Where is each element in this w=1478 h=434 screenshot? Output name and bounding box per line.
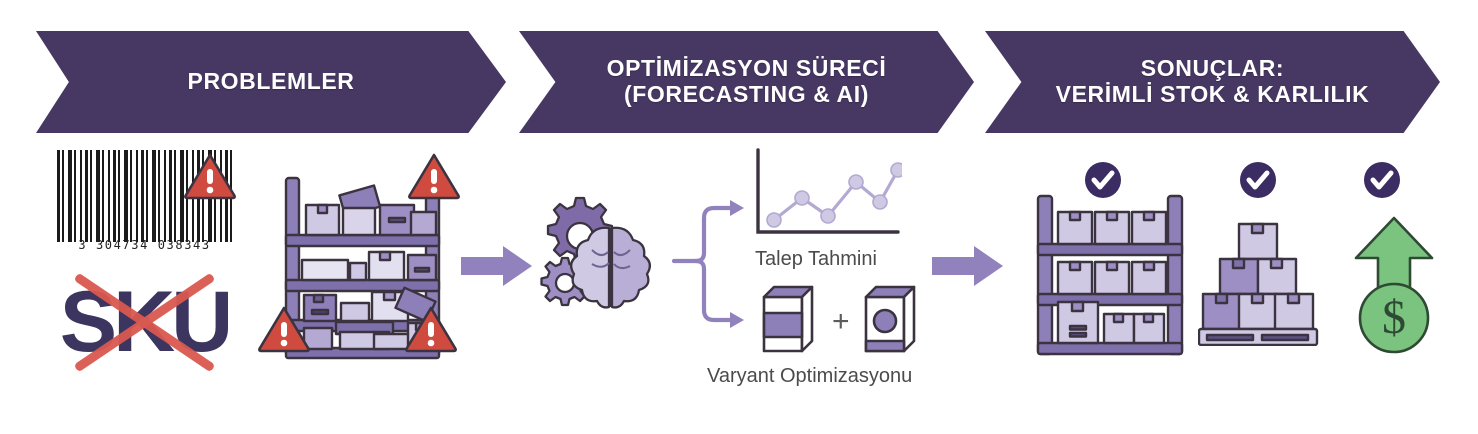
warning-triangle-icon xyxy=(408,152,460,200)
banner-optimization[interactable]: OPTİMİZASYON SÜRECİ (FORECASTING & AI) xyxy=(519,31,974,133)
banner-optimization-label: OPTİMİZASYON SÜRECİ (FORECASTING & AI) xyxy=(607,56,887,108)
warning-triangle-icon xyxy=(184,152,236,200)
variant-optimization-label: Varyant Optimizasyonu xyxy=(707,365,912,388)
infographic-canvas: PROBLEMLER OPTİMİZASYON SÜRECİ (FORECAST… xyxy=(0,0,1478,434)
warning-triangle-icon xyxy=(405,305,457,353)
branch-bracket-icon xyxy=(672,178,754,348)
green-up-arrow-dollar-icon: $ xyxy=(1348,214,1440,364)
dollar-symbol: $ xyxy=(1382,291,1406,344)
barcode-digits: 3 304734 038343 xyxy=(52,238,237,252)
organized-shelf-icon xyxy=(1030,190,1190,365)
right-arrow-icon xyxy=(932,245,1004,292)
banner-problems[interactable]: PROBLEMLER xyxy=(36,31,506,133)
sku-crossed-out: SKU xyxy=(52,272,237,372)
banner-results[interactable]: SONUÇLAR: VERİMLİ STOK & KARLILIK xyxy=(985,31,1440,133)
demand-forecast-label: Talep Tahmini xyxy=(755,248,877,271)
brain-gears-icon xyxy=(534,188,684,343)
warning-triangle-icon xyxy=(258,305,310,353)
two-packages-icon xyxy=(760,283,816,360)
two-packages-icon xyxy=(862,283,918,360)
check-badge-icon xyxy=(1362,160,1402,205)
pallet-boxes-icon xyxy=(1198,218,1320,351)
plus-operator: + xyxy=(832,305,850,339)
process-banner-row: PROBLEMLER OPTİMİZASYON SÜRECİ (FORECAST… xyxy=(0,31,1478,133)
line-chart-icon xyxy=(752,148,902,245)
banner-results-label: SONUÇLAR: VERİMLİ STOK & KARLILIK xyxy=(1056,56,1370,108)
check-badge-icon xyxy=(1238,160,1278,205)
right-arrow-icon xyxy=(461,245,533,292)
banner-problems-label: PROBLEMLER xyxy=(188,69,355,95)
